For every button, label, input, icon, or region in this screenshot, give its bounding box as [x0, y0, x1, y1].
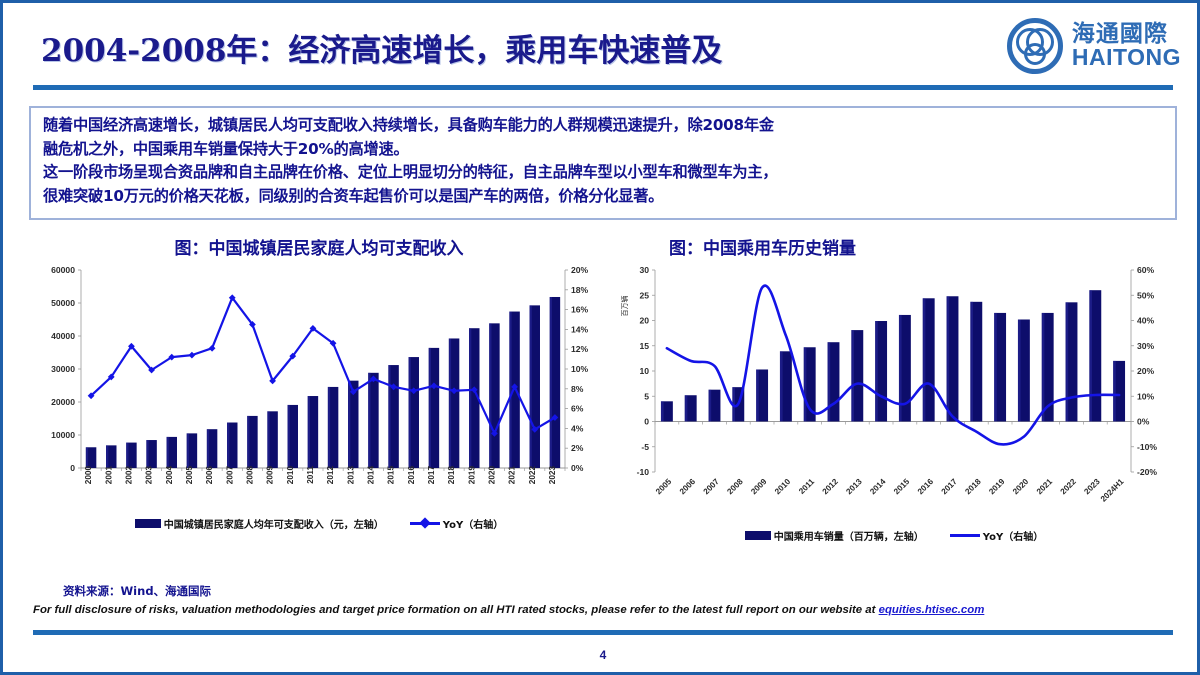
svg-text:2011: 2011 [797, 477, 816, 496]
page-number: 4 [3, 648, 1200, 662]
svg-text:2009: 2009 [266, 466, 275, 485]
slide-header: 2004-2008年：经济高速增长，乘用车快速普及 海通國際 HAITONG [3, 3, 1200, 95]
svg-text:50%: 50% [1137, 290, 1155, 300]
legend-line-swatch [950, 534, 980, 537]
logo-text: 海通國際 HAITONG [1072, 23, 1181, 70]
svg-text:5: 5 [644, 391, 649, 401]
svg-text:0%: 0% [571, 463, 584, 473]
svg-text:20%: 20% [571, 265, 589, 275]
chart-urban-disposable-income: 图：中国城镇居民家庭人均可支配收入 0100002000030000400005… [29, 228, 609, 573]
svg-text:2017: 2017 [427, 466, 436, 485]
svg-text:8%: 8% [571, 384, 584, 394]
chart-plot-area: 01000020000300004000050000600000%2%4%6%8… [29, 260, 609, 530]
svg-text:2020: 2020 [1011, 477, 1031, 497]
svg-text:-5: -5 [641, 442, 649, 452]
svg-text:2016: 2016 [916, 477, 936, 497]
legend-item-line: YoY（右轴） [950, 528, 1043, 543]
summary-line: 这一阶段市场呈现合资品牌和自主品牌在价格、定位上明显切分的特征，自主品牌车型以小… [43, 161, 1165, 185]
svg-text:2018: 2018 [963, 477, 983, 497]
svg-text:60000: 60000 [51, 265, 75, 275]
svg-text:2012: 2012 [821, 477, 841, 497]
legend-label: YoY（右轴） [983, 528, 1043, 543]
svg-text:2023: 2023 [1082, 477, 1102, 497]
haitong-emblem-icon [1007, 18, 1063, 74]
svg-text:2010: 2010 [286, 466, 295, 485]
svg-text:25: 25 [639, 290, 649, 300]
page-title: 2004-2008年：经济高速增长，乘用车快速普及 [41, 25, 722, 70]
svg-text:10%: 10% [1137, 391, 1155, 401]
svg-text:2020: 2020 [487, 466, 496, 485]
svg-text:2014: 2014 [868, 477, 888, 497]
svg-text:10000: 10000 [51, 430, 75, 440]
logo-chinese: 海通國際 [1072, 23, 1181, 46]
svg-text:2019: 2019 [987, 477, 1007, 497]
chart-legend: 中国乘用车销量（百万辆，左轴） YoY（右轴） [611, 528, 1177, 543]
svg-text:14%: 14% [571, 324, 589, 334]
svg-text:2007: 2007 [702, 477, 722, 497]
svg-text:40%: 40% [1137, 316, 1155, 326]
legend-item-line: YoY（右轴） [410, 516, 503, 531]
logo-english: HAITONG [1072, 46, 1181, 69]
haitong-logo: 海通國際 HAITONG [1007, 15, 1181, 77]
svg-text:2007: 2007 [225, 466, 234, 485]
svg-text:2022: 2022 [528, 466, 537, 485]
svg-text:2021: 2021 [1035, 477, 1055, 497]
svg-text:2024H1: 2024H1 [1099, 477, 1126, 504]
svg-text:2008: 2008 [725, 477, 745, 497]
svg-text:2005: 2005 [185, 466, 194, 485]
svg-text:2010: 2010 [773, 477, 793, 497]
chart-passenger-vehicle-sales: 图：中国乘用车历史销量 -10-5051015202530-20%-10%0%1… [611, 228, 1177, 573]
svg-text:2004: 2004 [165, 466, 174, 485]
legend-item-bars: 中国城镇居民家庭人均年可支配收入（元，左轴） [135, 516, 384, 531]
chart-svg-right: -10-5051015202530-20%-10%0%10%20%30%40%5… [611, 260, 1177, 550]
svg-text:0%: 0% [1137, 417, 1150, 427]
svg-text:20: 20 [639, 316, 649, 326]
svg-text:2005: 2005 [654, 477, 674, 497]
chart-plot-area: -10-5051015202530-20%-10%0%10%20%30%40%5… [611, 260, 1177, 530]
summary-line: 很难突破10万元的价格天花板，同级别的合资车起售价可以是国产车的两倍，价格分化显… [43, 185, 1165, 209]
svg-text:2015: 2015 [387, 466, 396, 485]
svg-text:-20%: -20% [1137, 467, 1157, 477]
svg-text:2019: 2019 [467, 466, 476, 485]
svg-text:-10: -10 [637, 467, 650, 477]
svg-text:12%: 12% [571, 344, 589, 354]
svg-text:2022: 2022 [1059, 477, 1079, 497]
svg-text:2006: 2006 [678, 477, 698, 497]
disclaimer-text: For full disclosure of risks, valuation … [33, 604, 1173, 616]
svg-text:2003: 2003 [145, 466, 154, 485]
svg-text:60%: 60% [1137, 265, 1155, 275]
summary-box: 随着中国经济高速增长，城镇居民人均可支配收入持续增长，具备购车能力的人群规模迅速… [29, 106, 1177, 220]
svg-text:10%: 10% [571, 364, 589, 374]
chart-legend: 中国城镇居民家庭人均年可支配收入（元，左轴） YoY（右轴） [29, 516, 609, 531]
svg-text:16%: 16% [571, 305, 589, 315]
svg-text:2012: 2012 [326, 466, 335, 485]
legend-bar-swatch [745, 531, 771, 540]
svg-text:30: 30 [639, 265, 649, 275]
chart-title: 图：中国城镇居民家庭人均可支配收入 [29, 234, 609, 259]
svg-text:0: 0 [644, 417, 649, 427]
svg-text:10: 10 [639, 366, 649, 376]
svg-text:4%: 4% [571, 423, 584, 433]
source-note: 资料来源：Wind、海通国际 [63, 583, 211, 599]
title-divider [33, 85, 1173, 90]
slide-root: 2004-2008年：经济高速增长，乘用车快速普及 海通國際 HAITONG 随… [0, 0, 1200, 675]
legend-label: 中国乘用车销量（百万辆，左轴） [774, 528, 924, 543]
svg-text:2021: 2021 [508, 466, 517, 485]
legend-label: YoY（右轴） [443, 516, 503, 531]
svg-text:20%: 20% [1137, 366, 1155, 376]
footer-divider [33, 630, 1173, 635]
svg-text:40000: 40000 [51, 331, 75, 341]
svg-text:50000: 50000 [51, 298, 75, 308]
svg-text:2017: 2017 [940, 477, 960, 497]
svg-text:2015: 2015 [892, 477, 912, 497]
svg-text:2009: 2009 [749, 477, 769, 497]
svg-text:18%: 18% [571, 285, 589, 295]
svg-text:2013: 2013 [844, 477, 864, 497]
svg-text:15: 15 [639, 341, 649, 351]
svg-text:百万辆: 百万辆 [620, 296, 629, 317]
svg-text:2002: 2002 [124, 466, 133, 485]
svg-text:2016: 2016 [407, 466, 416, 485]
svg-text:2000: 2000 [84, 466, 93, 485]
summary-line: 融危机之外，中国乘用车销量保持大于20%的高增速。 [43, 138, 1165, 162]
chart-title: 图：中国乘用车历史销量 [611, 234, 1177, 259]
disclaimer-link[interactable]: equities.htisec.com [879, 604, 985, 616]
svg-text:2023: 2023 [548, 466, 557, 485]
svg-text:2011: 2011 [306, 466, 315, 484]
svg-text:6%: 6% [571, 404, 584, 414]
svg-text:20000: 20000 [51, 397, 75, 407]
svg-text:2%: 2% [571, 443, 584, 453]
svg-text:2008: 2008 [245, 466, 254, 485]
legend-label: 中国城镇居民家庭人均年可支配收入（元，左轴） [164, 516, 384, 531]
svg-text:2006: 2006 [205, 466, 214, 485]
legend-item-bars: 中国乘用车销量（百万辆，左轴） [745, 528, 924, 543]
svg-text:-10%: -10% [1137, 442, 1157, 452]
svg-text:30000: 30000 [51, 364, 75, 374]
legend-bar-swatch [135, 519, 161, 528]
summary-line: 随着中国经济高速增长，城镇居民人均可支配收入持续增长，具备购车能力的人群规模迅速… [43, 114, 1165, 138]
svg-text:0: 0 [70, 463, 75, 473]
chart-svg-left: 01000020000300004000050000600000%2%4%6%8… [29, 260, 609, 530]
svg-text:2018: 2018 [447, 466, 456, 485]
svg-text:2001: 2001 [104, 466, 113, 485]
disclaimer-body: For full disclosure of risks, valuation … [33, 604, 879, 616]
legend-line-swatch [410, 522, 440, 525]
svg-text:2014: 2014 [366, 466, 375, 485]
svg-text:30%: 30% [1137, 341, 1155, 351]
svg-text:2013: 2013 [346, 466, 355, 485]
